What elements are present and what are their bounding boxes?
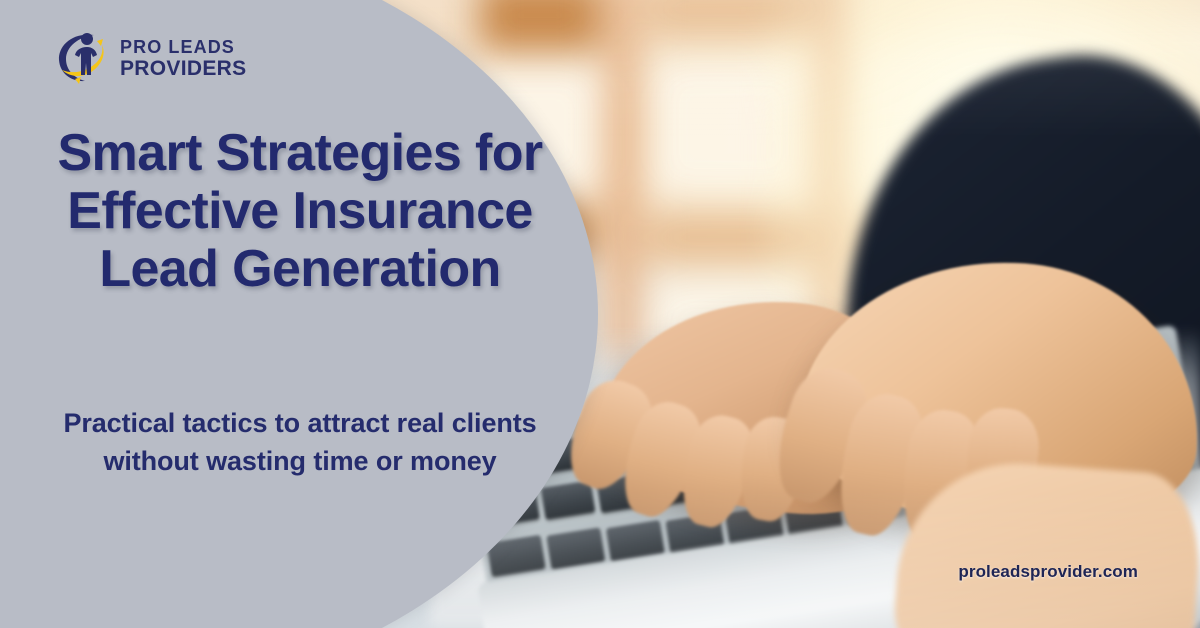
headline-line-1: Smart Strategies for	[40, 124, 560, 182]
headline-line-3: Lead Generation	[40, 240, 560, 298]
brand-logo[interactable]: PRO LEADS PROVIDERS	[52, 26, 246, 88]
brand-name-line1: PRO LEADS	[120, 38, 246, 56]
marketing-banner: PRO LEADS PROVIDERS Smart Strategies for…	[0, 0, 1200, 628]
page-title: Smart Strategies for Effective Insurance…	[0, 124, 600, 299]
swoosh-person-logo-icon	[52, 26, 114, 88]
headline-line-2: Effective Insurance	[40, 182, 560, 240]
brand-name-line2: PROVIDERS	[120, 58, 246, 79]
brand-wordmark: PRO LEADS PROVIDERS	[120, 36, 246, 79]
website-url[interactable]: proleadsprovider.com	[958, 562, 1138, 582]
page-subtitle: Practical tactics to attract real client…	[0, 404, 600, 481]
content-area: PRO LEADS PROVIDERS Smart Strategies for…	[0, 0, 600, 628]
